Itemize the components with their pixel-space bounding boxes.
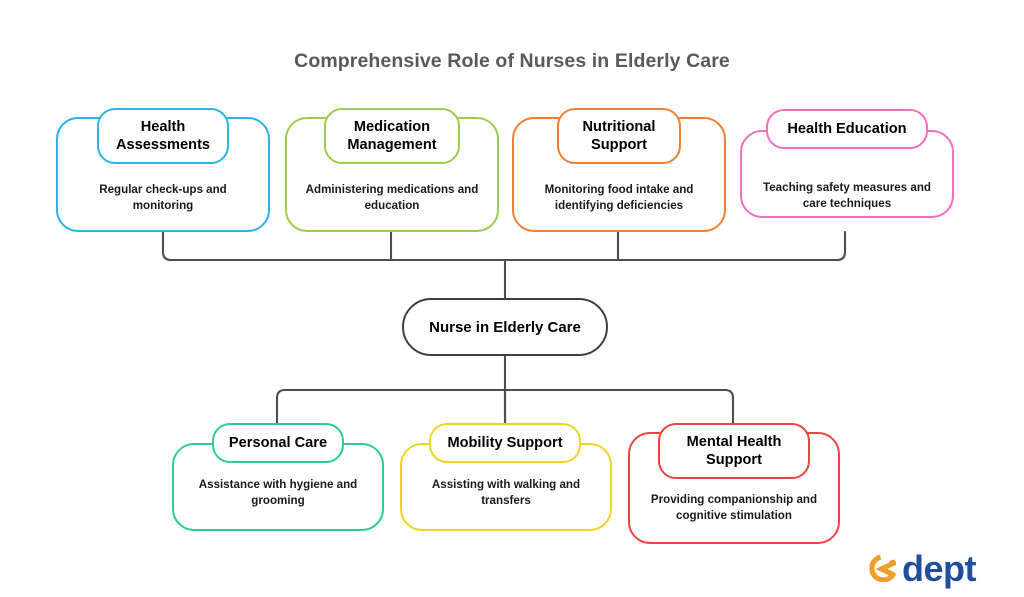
card-description: Teaching safety measures and care techni… — [742, 180, 952, 213]
card-description: Monitoring food intake and identifying d… — [514, 182, 724, 215]
card-description: Regular check-ups and monitoring — [58, 182, 268, 215]
card-title: Mental Health Support — [687, 433, 782, 470]
card-title-line1: Nutritional — [583, 119, 656, 135]
card-title-line2: Support — [591, 137, 647, 153]
card-title-line2: Management — [347, 137, 436, 153]
card-header-mobility-support[interactable]: Mobility Support — [429, 423, 581, 463]
card-header-mental-health-support[interactable]: Mental Health Support — [658, 423, 810, 479]
card-header-nutritional-support[interactable]: Nutritional Support — [557, 108, 681, 164]
card-description: Assistance with hygiene and grooming — [174, 477, 382, 510]
diagram-canvas: Comprehensive Role of Nurses in Elderly … — [0, 0, 1024, 597]
edept-logo-text: dept — [902, 551, 976, 587]
card-title: Personal Care — [229, 434, 327, 452]
card-title-line1: Mental Health — [687, 434, 782, 450]
edept-logo: dept — [866, 548, 1006, 590]
card-description: Providing companionship and cognitive st… — [630, 492, 838, 525]
card-title-line2: Assessments — [116, 137, 210, 153]
card-description: Administering medications and education — [287, 182, 497, 215]
card-header-medication-management[interactable]: Medication Management — [324, 108, 460, 164]
edept-e-mark-icon — [866, 552, 900, 586]
card-title-line1: Health — [141, 119, 186, 135]
card-title: Mobility Support — [447, 434, 562, 452]
card-header-health-assessments[interactable]: Health Assessments — [97, 108, 229, 164]
center-node-label: Nurse in Elderly Care — [429, 319, 581, 336]
card-title: Health Assessments — [116, 118, 210, 155]
card-title: Nutritional Support — [583, 118, 656, 155]
card-title: Medication Management — [347, 118, 436, 155]
card-description: Assisting with walking and transfers — [402, 477, 610, 510]
center-node-nurse-in-elderly-care[interactable]: Nurse in Elderly Care — [402, 298, 608, 356]
card-header-personal-care[interactable]: Personal Care — [212, 423, 344, 463]
card-title-line2: Support — [706, 452, 762, 468]
card-title: Health Education — [787, 120, 906, 138]
card-header-health-education[interactable]: Health Education — [766, 109, 928, 149]
page-title: Comprehensive Role of Nurses in Elderly … — [0, 50, 1024, 73]
card-title-line1: Medication — [354, 119, 430, 135]
